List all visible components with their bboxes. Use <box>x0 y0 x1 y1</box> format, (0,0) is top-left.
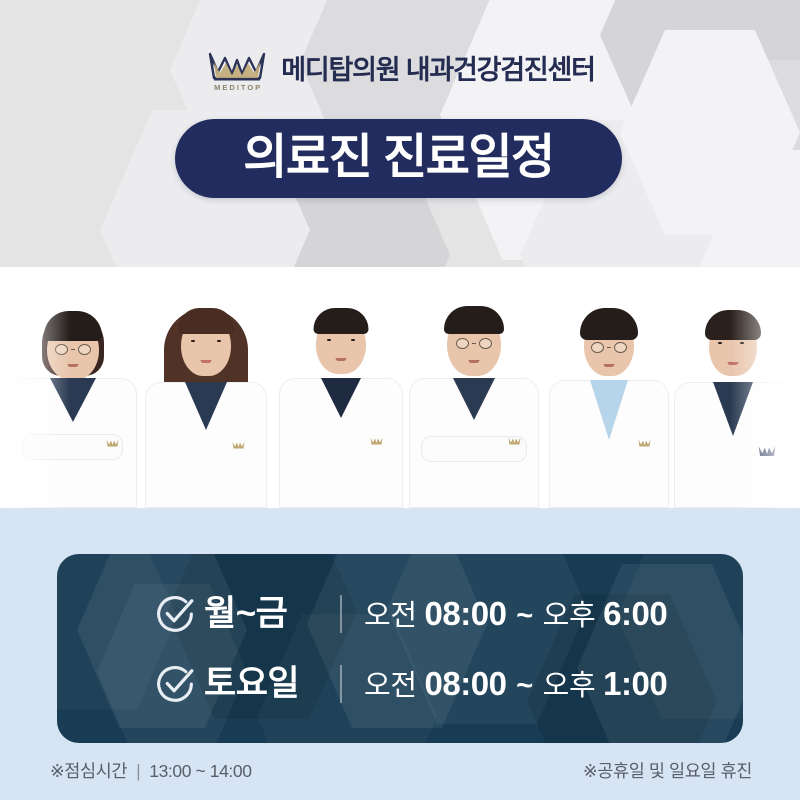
page-title: 의료진 진료일정 <box>243 134 553 182</box>
doctor-portrait <box>672 278 794 508</box>
logo: MEDITOP <box>205 48 269 92</box>
schedule-row: 토요일 오전 08:00 ~ 오후 1:00 <box>155 656 743 712</box>
period-start: 오전 <box>364 670 417 702</box>
doctor-portrait <box>545 278 673 508</box>
time-start: 08:00 <box>425 595 507 632</box>
crown-logo-icon <box>208 48 266 82</box>
schedule-day-label: 토요일 <box>204 666 326 701</box>
range-mark: ~ <box>514 600 535 632</box>
coat-crest-icon <box>638 438 651 447</box>
logo-wordmark: MEDITOP <box>212 84 262 92</box>
team-photo <box>0 267 800 508</box>
schedule-time: 오전 08:00 ~ 오후 1:00 <box>364 667 667 701</box>
period-start: 오전 <box>364 600 417 632</box>
coat-crest-icon <box>370 436 383 445</box>
doctor-portrait <box>278 278 404 508</box>
time-end: 1:00 <box>603 665 667 702</box>
coat-crest-icon <box>232 440 245 449</box>
check-circle-icon <box>155 594 195 634</box>
coat-crest-icon <box>106 438 119 447</box>
range-mark: ~ <box>514 670 535 702</box>
schedule-section: 월~금 오전 08:00 ~ 오후 6:00 토요일 오전 08:00 ~ 오후… <box>0 508 800 800</box>
check-circle-icon <box>155 664 195 704</box>
brand-lockup: MEDITOP 메디탑의원 내과건강검진센터 <box>0 42 800 98</box>
lunch-label: ※점심시간 <box>50 761 127 781</box>
schedule-time: 오전 08:00 ~ 오후 6:00 <box>364 597 667 631</box>
time-end: 6:00 <box>603 595 667 632</box>
coat-crest-icon <box>508 436 521 445</box>
page-title-pill: 의료진 진료일정 <box>175 119 622 198</box>
period-end: 오후 <box>543 600 596 632</box>
schedule-row: 월~금 오전 08:00 ~ 오후 6:00 <box>155 586 743 642</box>
schedule-box: 월~금 오전 08:00 ~ 오후 6:00 토요일 오전 08:00 ~ 오후… <box>57 554 743 743</box>
header-section: MEDITOP 메디탑의원 내과건강검진센터 의료진 진료일정 <box>0 0 800 267</box>
row-divider <box>340 665 342 703</box>
lunch-separator: | <box>127 761 149 781</box>
row-divider <box>340 595 342 633</box>
lunch-time-note: ※점심시간|13:00 ~ 14:00 <box>50 758 252 783</box>
schedule-poster: MEDITOP 메디탑의원 내과건강검진센터 의료진 진료일정 <box>0 0 800 800</box>
period-end: 오후 <box>543 670 596 702</box>
doctor-portrait <box>8 278 138 508</box>
brand-name: 메디탑의원 내과건강검진센터 <box>281 57 595 84</box>
closed-days-note: ※공휴일 및 일요일 휴진 <box>583 758 752 783</box>
doctor-portrait <box>140 278 272 508</box>
time-start: 08:00 <box>425 665 507 702</box>
doctor-portrait <box>408 278 540 508</box>
lunch-time: 13:00 ~ 14:00 <box>149 761 251 781</box>
coat-crest-icon <box>758 444 776 457</box>
schedule-day-label: 월~금 <box>204 596 326 631</box>
